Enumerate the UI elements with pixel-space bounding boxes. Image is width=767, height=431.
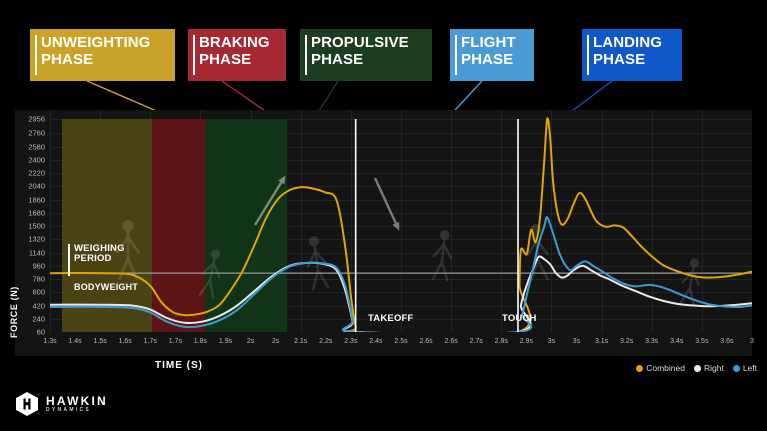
callout-accent-bar — [305, 35, 307, 75]
legend-color-swatch — [694, 365, 701, 372]
force-time-chart: FORCE (N) 295627602580240022202040186016… — [15, 110, 752, 356]
y-tick-label: 240 — [15, 314, 45, 323]
callout-line-1: UNWEIGHTING — [41, 34, 167, 51]
y-tick-label: 2580 — [15, 142, 45, 151]
callout-line-2: PHASE — [199, 51, 278, 68]
callout-braking[interactable]: BRAKINGPHASE — [188, 29, 286, 81]
legend-item-right[interactable]: Right — [694, 363, 724, 373]
legend-item-combined[interactable]: Combined — [636, 363, 685, 373]
callout-accent-bar — [455, 35, 457, 75]
callout-landing[interactable]: LANDINGPHASE — [582, 29, 682, 81]
legend-color-swatch — [733, 365, 740, 372]
legend-item-left[interactable]: Left — [733, 363, 757, 373]
callout-propulsive[interactable]: PROPULSIVEPHASE — [300, 29, 432, 81]
weighing-period-marker — [68, 244, 70, 276]
legend-label: Right — [704, 363, 724, 373]
legend-label: Left — [743, 363, 757, 373]
y-tick-label: 600 — [15, 288, 45, 297]
hawkin-dynamics-logo: HAWKIN DYNAMICS — [14, 391, 108, 417]
legend-color-swatch — [636, 365, 643, 372]
y-tick-label: 1320 — [15, 235, 45, 244]
bodyweight-label: BODYWEIGHT — [74, 283, 138, 293]
y-tick-label: 1860 — [15, 195, 45, 204]
callout-accent-bar — [193, 35, 195, 75]
y-tick-label: 60 — [15, 328, 45, 337]
callout-line-2: PHASE — [461, 51, 526, 68]
y-tick-label: 420 — [15, 301, 45, 310]
arrow-up-braking — [255, 175, 286, 225]
x-axis-title: TIME (S) — [155, 360, 203, 371]
y-tick-label: 780 — [15, 275, 45, 284]
legend-label: Combined — [646, 363, 685, 373]
logo-name: HAWKIN — [46, 395, 108, 407]
callout-line-1: FLIGHT — [461, 34, 526, 51]
hexagon-h-icon — [14, 391, 40, 417]
callout-unweighting[interactable]: UNWEIGHTINGPHASE — [30, 29, 175, 81]
y-tick-label: 2220 — [15, 169, 45, 178]
x-tick-label: 3 — [737, 338, 767, 345]
plot-area: WEIGHING PERIOD BODYWEIGHT TAKEOFF TOUCH — [50, 110, 752, 332]
y-tick-label: 1140 — [15, 248, 45, 257]
logo-subtitle: DYNAMICS — [46, 408, 108, 413]
y-tick-label: 2040 — [15, 182, 45, 191]
y-tick-label: 960 — [15, 261, 45, 270]
takeoff-label: TAKEOFF — [368, 314, 414, 324]
callout-line-1: PROPULSIVE — [311, 34, 424, 51]
trend-arrows — [50, 110, 752, 332]
y-tick-label: 1500 — [15, 222, 45, 231]
y-tick-label: 1680 — [15, 208, 45, 217]
callout-line-2: PHASE — [311, 51, 424, 68]
y-tick-label: 2956 — [15, 115, 45, 124]
callout-line-2: PHASE — [593, 51, 674, 68]
callout-accent-bar — [587, 35, 589, 75]
callout-line-2: PHASE — [41, 51, 167, 68]
weighing-period-label: WEIGHING PERIOD — [74, 244, 125, 265]
y-tick-label: 2760 — [15, 129, 45, 138]
touch-label: TOUCH — [502, 314, 537, 324]
callout-line-1: BRAKING — [199, 34, 278, 51]
callout-line-1: LANDING — [593, 34, 674, 51]
y-tick-label: 2400 — [15, 155, 45, 164]
arrow-down-propulsive — [375, 178, 399, 231]
callout-accent-bar — [35, 35, 37, 75]
chart-legend: CombinedRightLeft — [636, 363, 757, 373]
callout-flight[interactable]: FLIGHTPHASE — [450, 29, 534, 81]
